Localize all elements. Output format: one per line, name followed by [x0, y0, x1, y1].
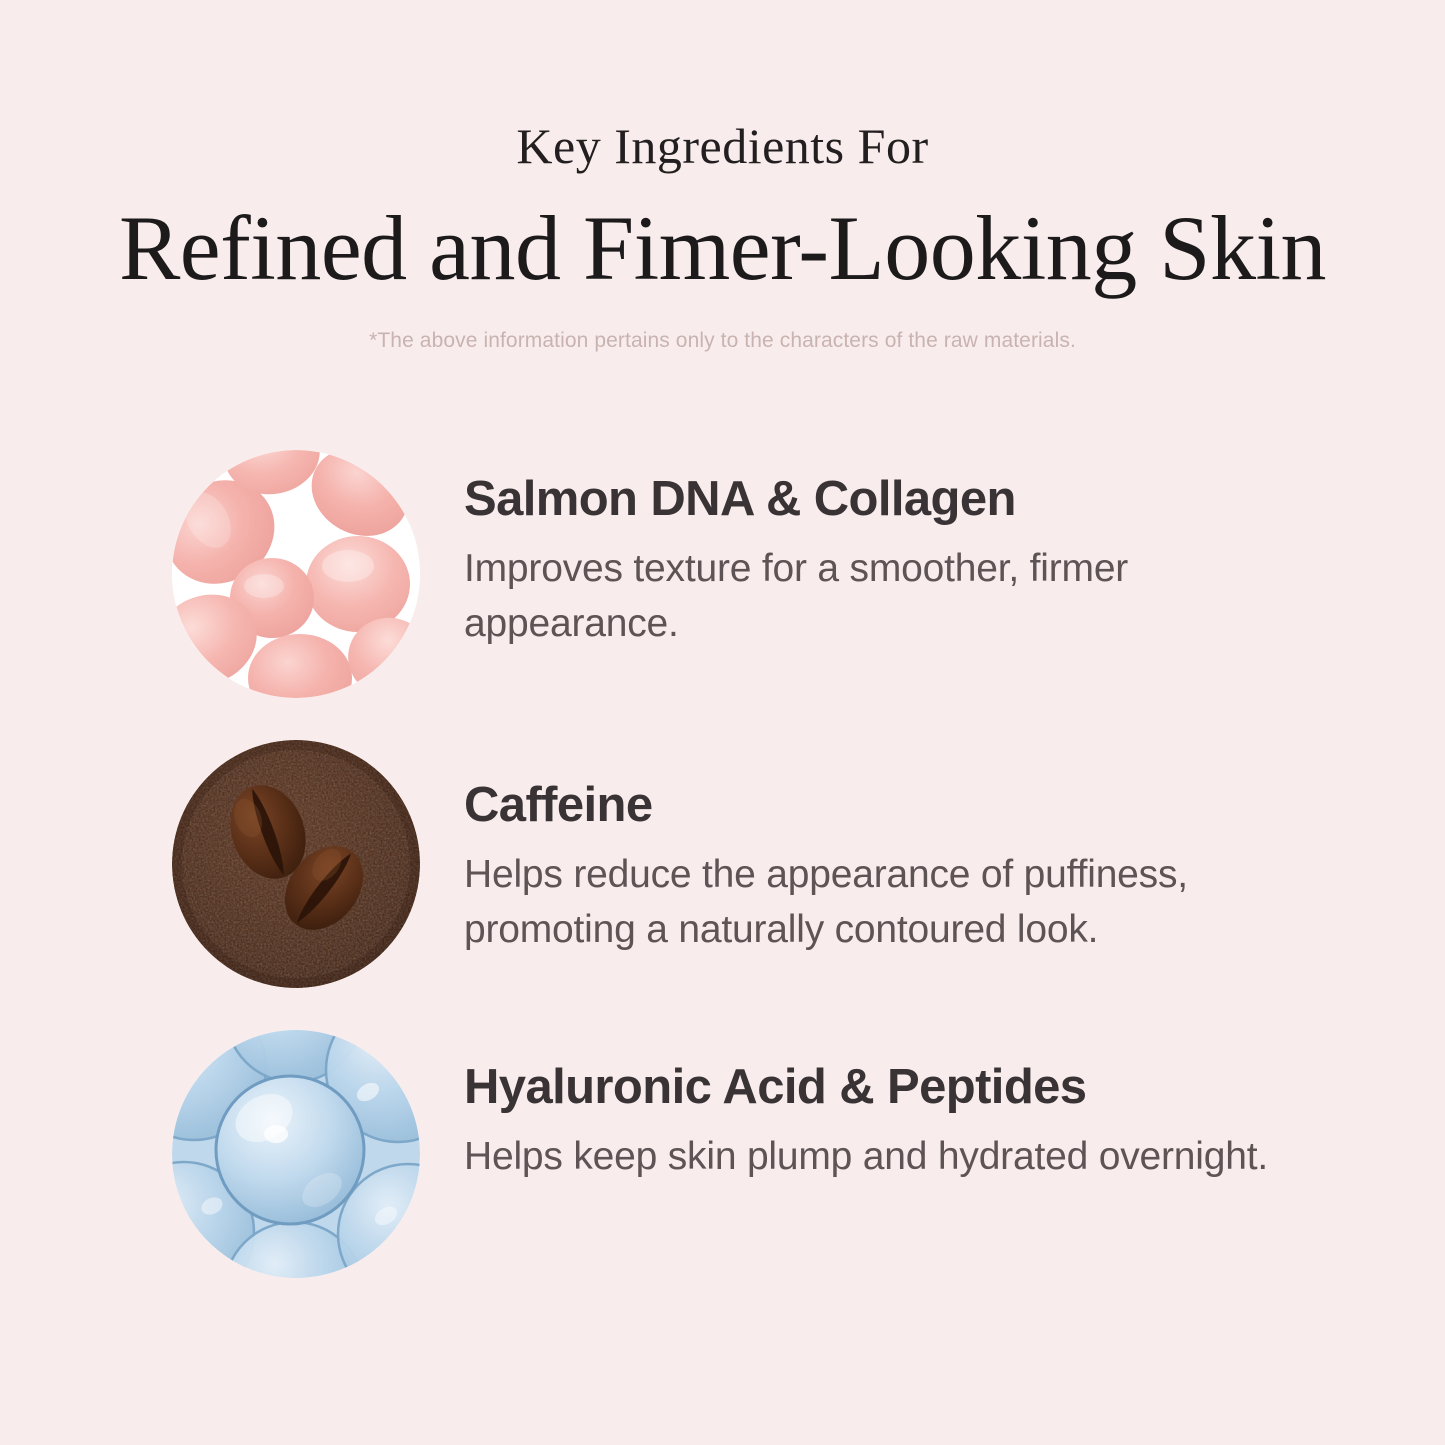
list-item: Caffeine Helps reduce the appearance of …: [172, 740, 1332, 988]
ingredient-copy: Hyaluronic Acid & Peptides Helps keep sk…: [464, 1060, 1324, 1184]
list-item: Salmon DNA & Collagen Improves texture f…: [172, 450, 1332, 698]
ingredient-description: Improves texture for a smoother, firmer …: [464, 527, 1324, 652]
ingredient-description: Helps reduce the appearance of puffiness…: [464, 833, 1324, 958]
page-header: Key Ingredients For Refined and Fimer-Lo…: [0, 0, 1445, 354]
list-item: Hyaluronic Acid & Peptides Helps keep sk…: [172, 1030, 1332, 1278]
blue-water-bubbles-photo: [172, 1030, 420, 1278]
ingredient-description: Helps keep skin plump and hydrated overn…: [464, 1115, 1324, 1184]
pink-capsules-photo: [172, 450, 420, 698]
ingredient-title: Salmon DNA & Collagen: [464, 472, 1324, 527]
disclaimer-text: *The above information pertains only to …: [0, 298, 1445, 353]
ground-coffee-beans-photo: [172, 740, 420, 988]
ingredient-list: Salmon DNA & Collagen Improves texture f…: [172, 450, 1332, 1278]
eyebrow-text: Key Ingredients For: [0, 0, 1445, 171]
page-title: Refined and Fimer-Looking Skin: [0, 171, 1445, 298]
ingredient-title: Hyaluronic Acid & Peptides: [464, 1060, 1324, 1115]
ingredient-copy: Salmon DNA & Collagen Improves texture f…: [464, 472, 1324, 652]
ingredient-title: Caffeine: [464, 778, 1324, 833]
ingredient-copy: Caffeine Helps reduce the appearance of …: [464, 778, 1324, 958]
ingredients-infographic: Key Ingredients For Refined and Fimer-Lo…: [0, 0, 1445, 1445]
